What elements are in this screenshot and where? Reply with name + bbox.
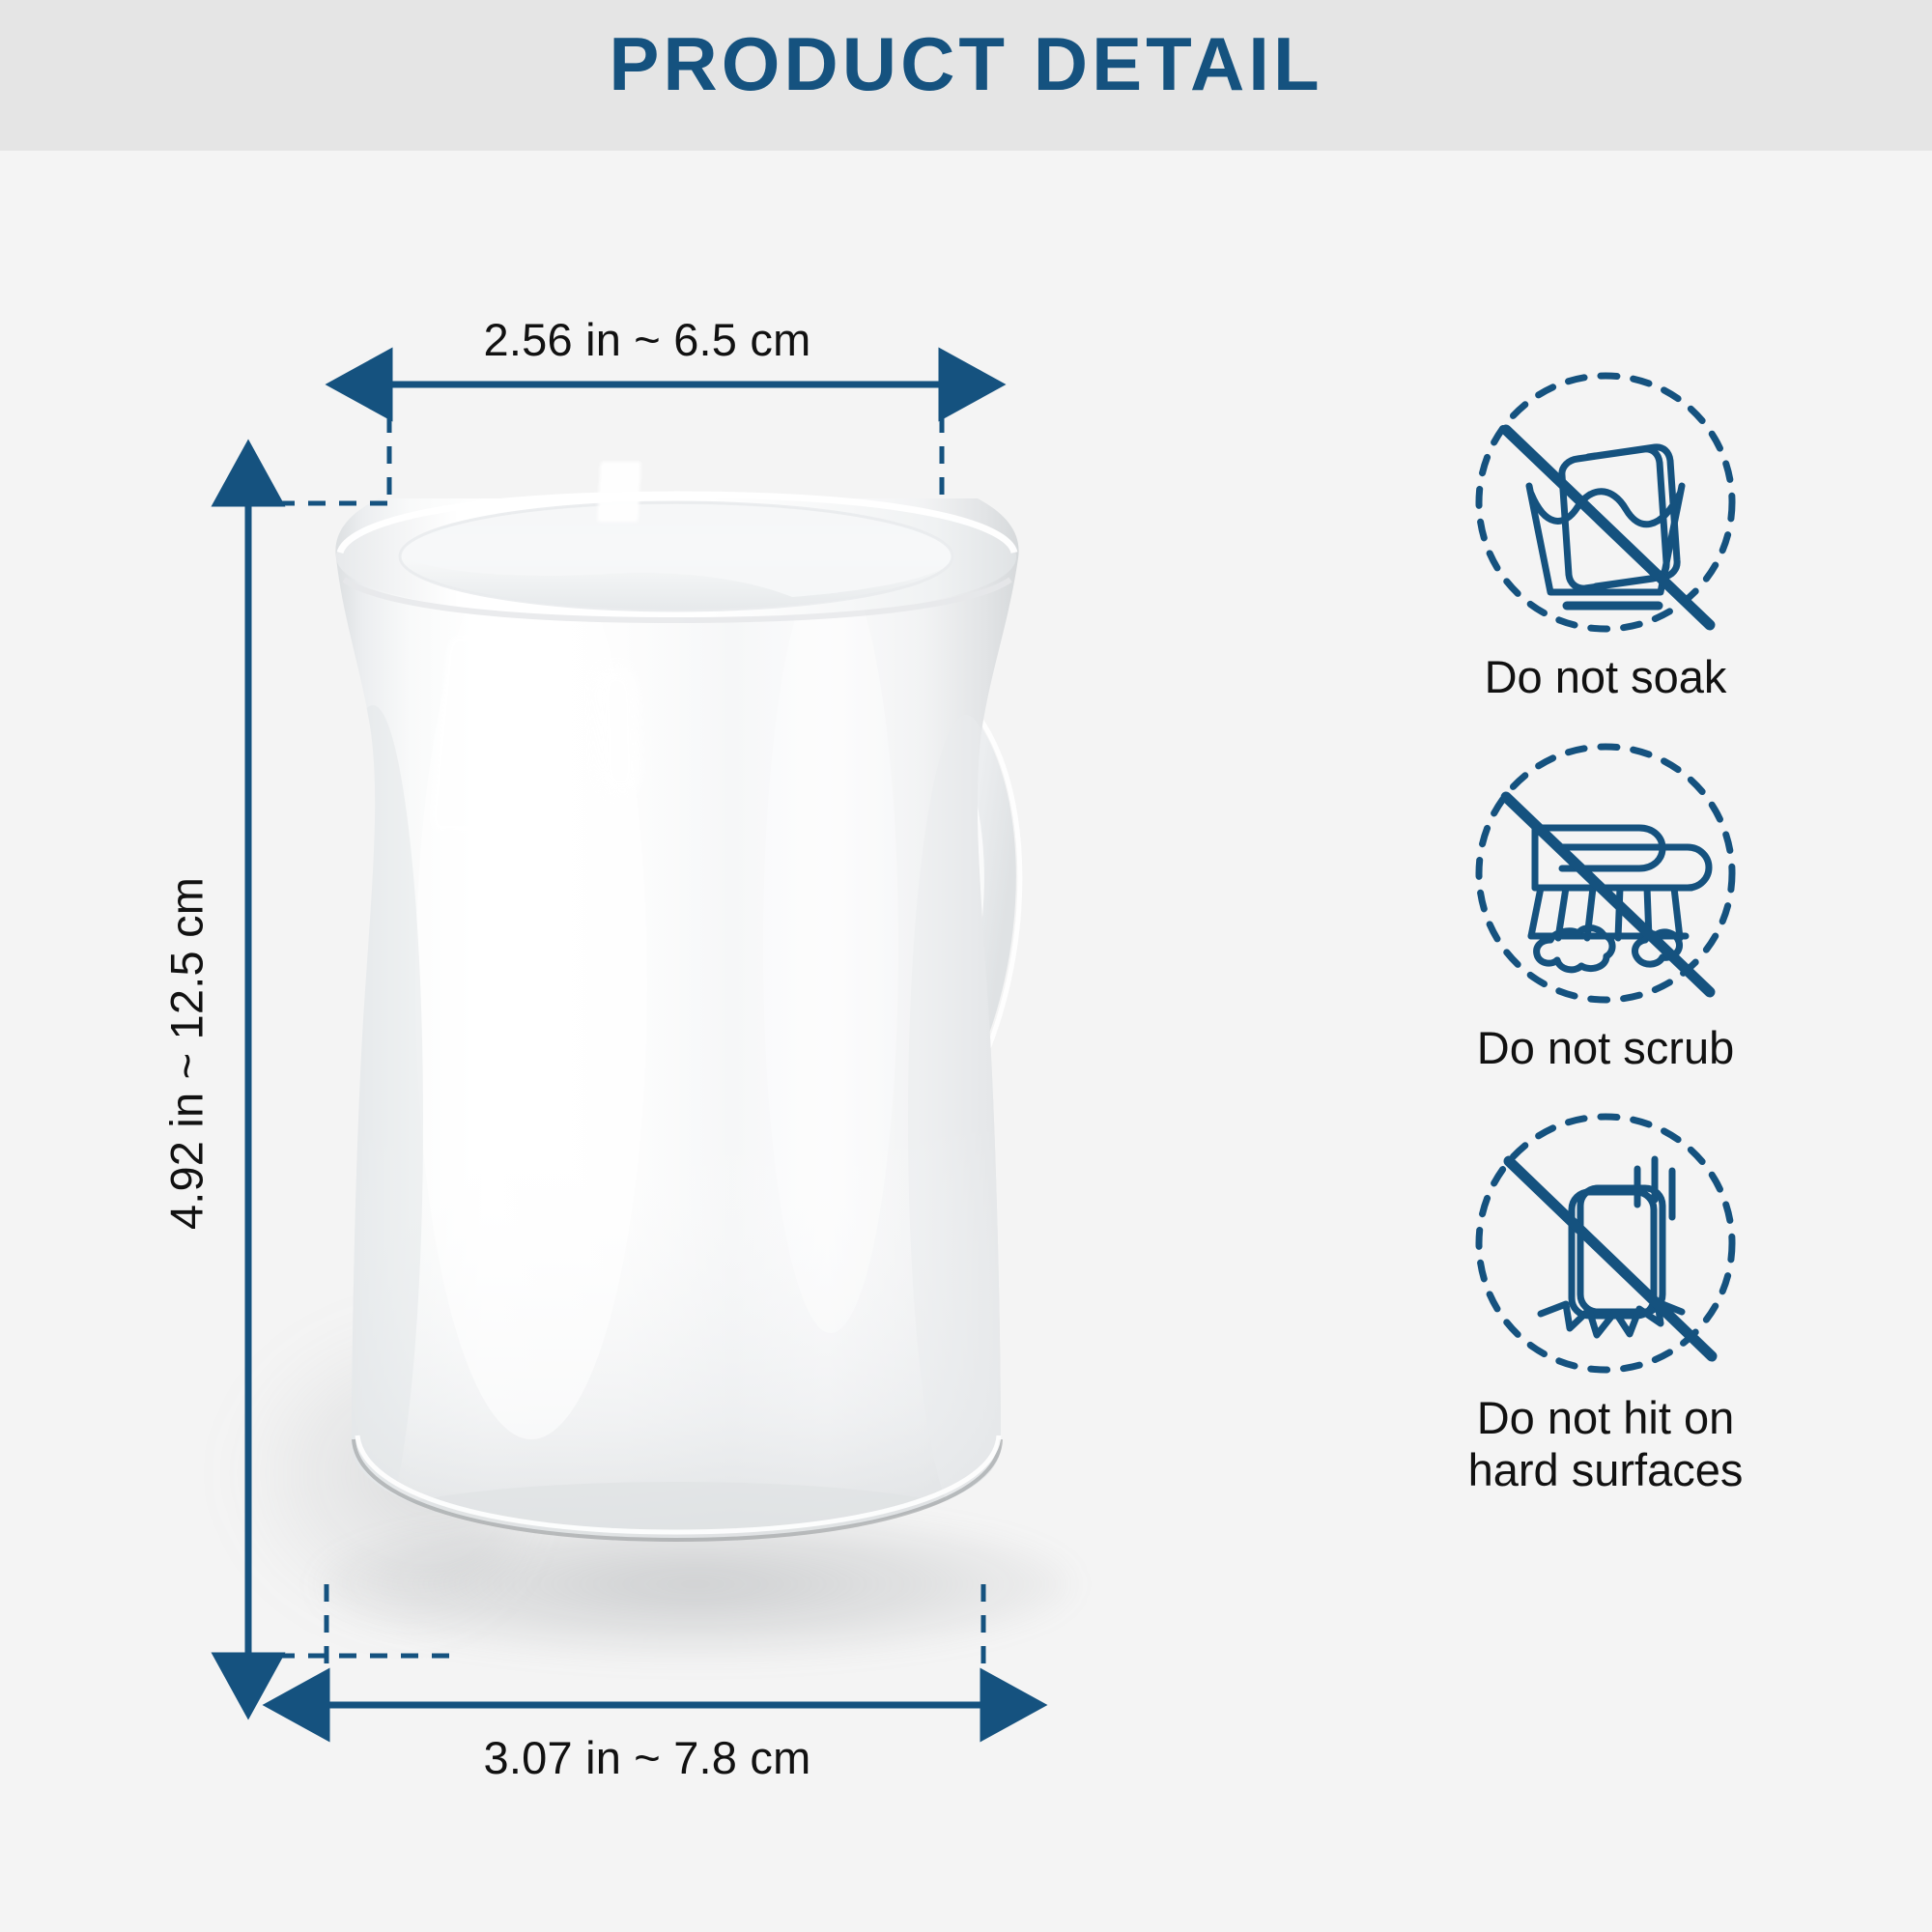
care-caption-no-impact: Do not hit on hard surfaces xyxy=(1383,1392,1828,1495)
care-caption-no-impact-line1: Do not hit on xyxy=(1383,1392,1828,1444)
dimension-label-height: 4.92 in ~ 12.5 cm xyxy=(160,783,213,1324)
care-item-no-scrub: Do not scrub xyxy=(1383,728,1828,1074)
side-highlight xyxy=(595,668,642,796)
care-caption-no-impact-line2: hard surfaces xyxy=(1383,1444,1828,1496)
no-scrub-brush-icon xyxy=(1383,728,1828,1018)
mug-body xyxy=(290,444,1063,1565)
care-instructions-list: Do not soak xyxy=(1383,357,1828,1520)
care-item-no-soak: Do not soak xyxy=(1383,357,1828,703)
page-title: PRODUCT DETAIL xyxy=(0,26,1932,101)
no-impact-hard-surface-icon xyxy=(1383,1098,1828,1388)
care-item-no-impact: Do not hit on hard surfaces xyxy=(1383,1098,1828,1495)
product-image xyxy=(290,444,1333,1652)
care-caption-no-soak: Do not soak xyxy=(1383,651,1828,703)
care-caption-no-scrub: Do not scrub xyxy=(1383,1022,1828,1074)
no-soak-icon xyxy=(1383,357,1828,647)
dimension-label-top-width: 2.56 in ~ 6.5 cm xyxy=(357,313,937,366)
rim-highlight xyxy=(597,462,640,522)
dimension-label-bottom-width: 3.07 in ~ 7.8 cm xyxy=(328,1731,966,1784)
product-detail-page: PRODUCT DETAIL xyxy=(0,0,1932,1932)
